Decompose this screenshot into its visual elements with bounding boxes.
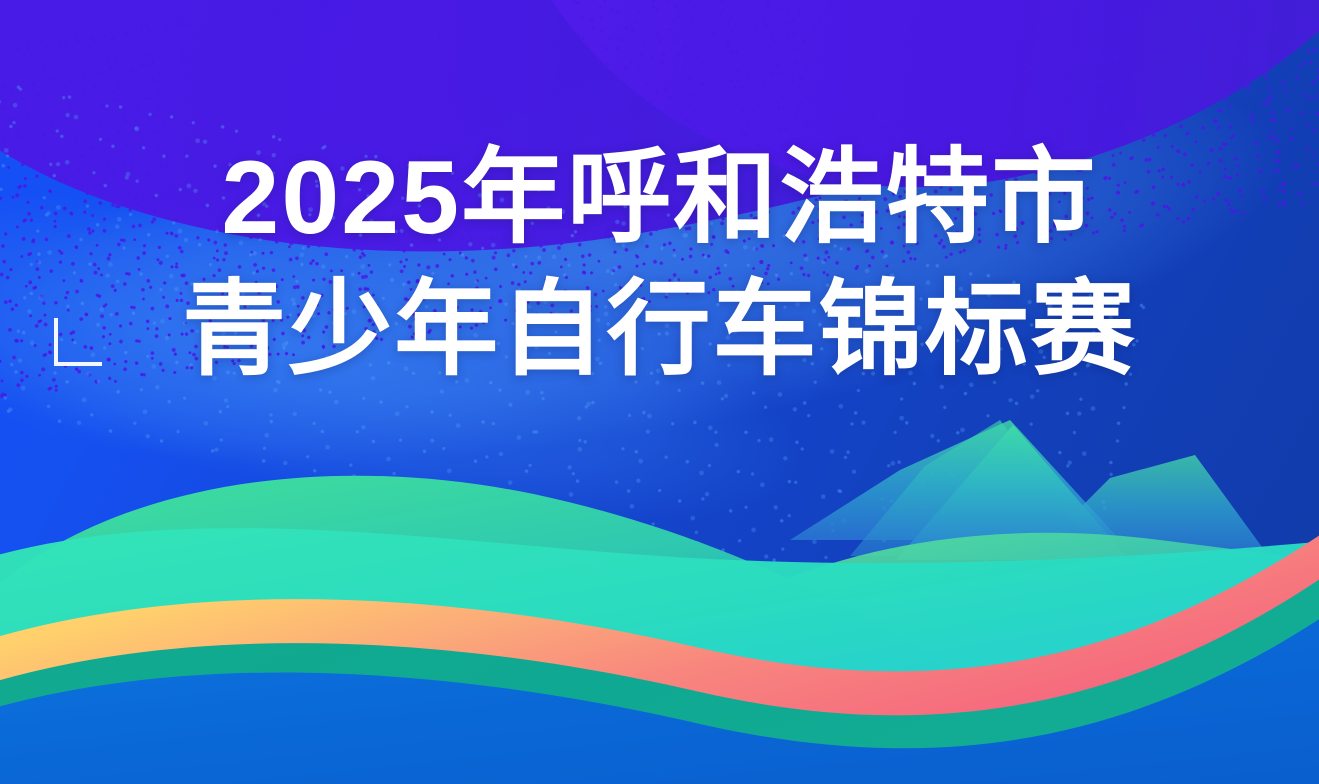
event-poster: 2025年呼和浩特市 青少年自行车锦标赛 (0, 0, 1319, 784)
landscape (0, 0, 1319, 784)
poster-title: 2025年呼和浩特市 青少年自行车锦标赛 (0, 146, 1319, 382)
title-line-1: 2025年呼和浩特市 (0, 146, 1319, 250)
title-line-2: 青少年自行车锦标赛 (0, 278, 1319, 382)
